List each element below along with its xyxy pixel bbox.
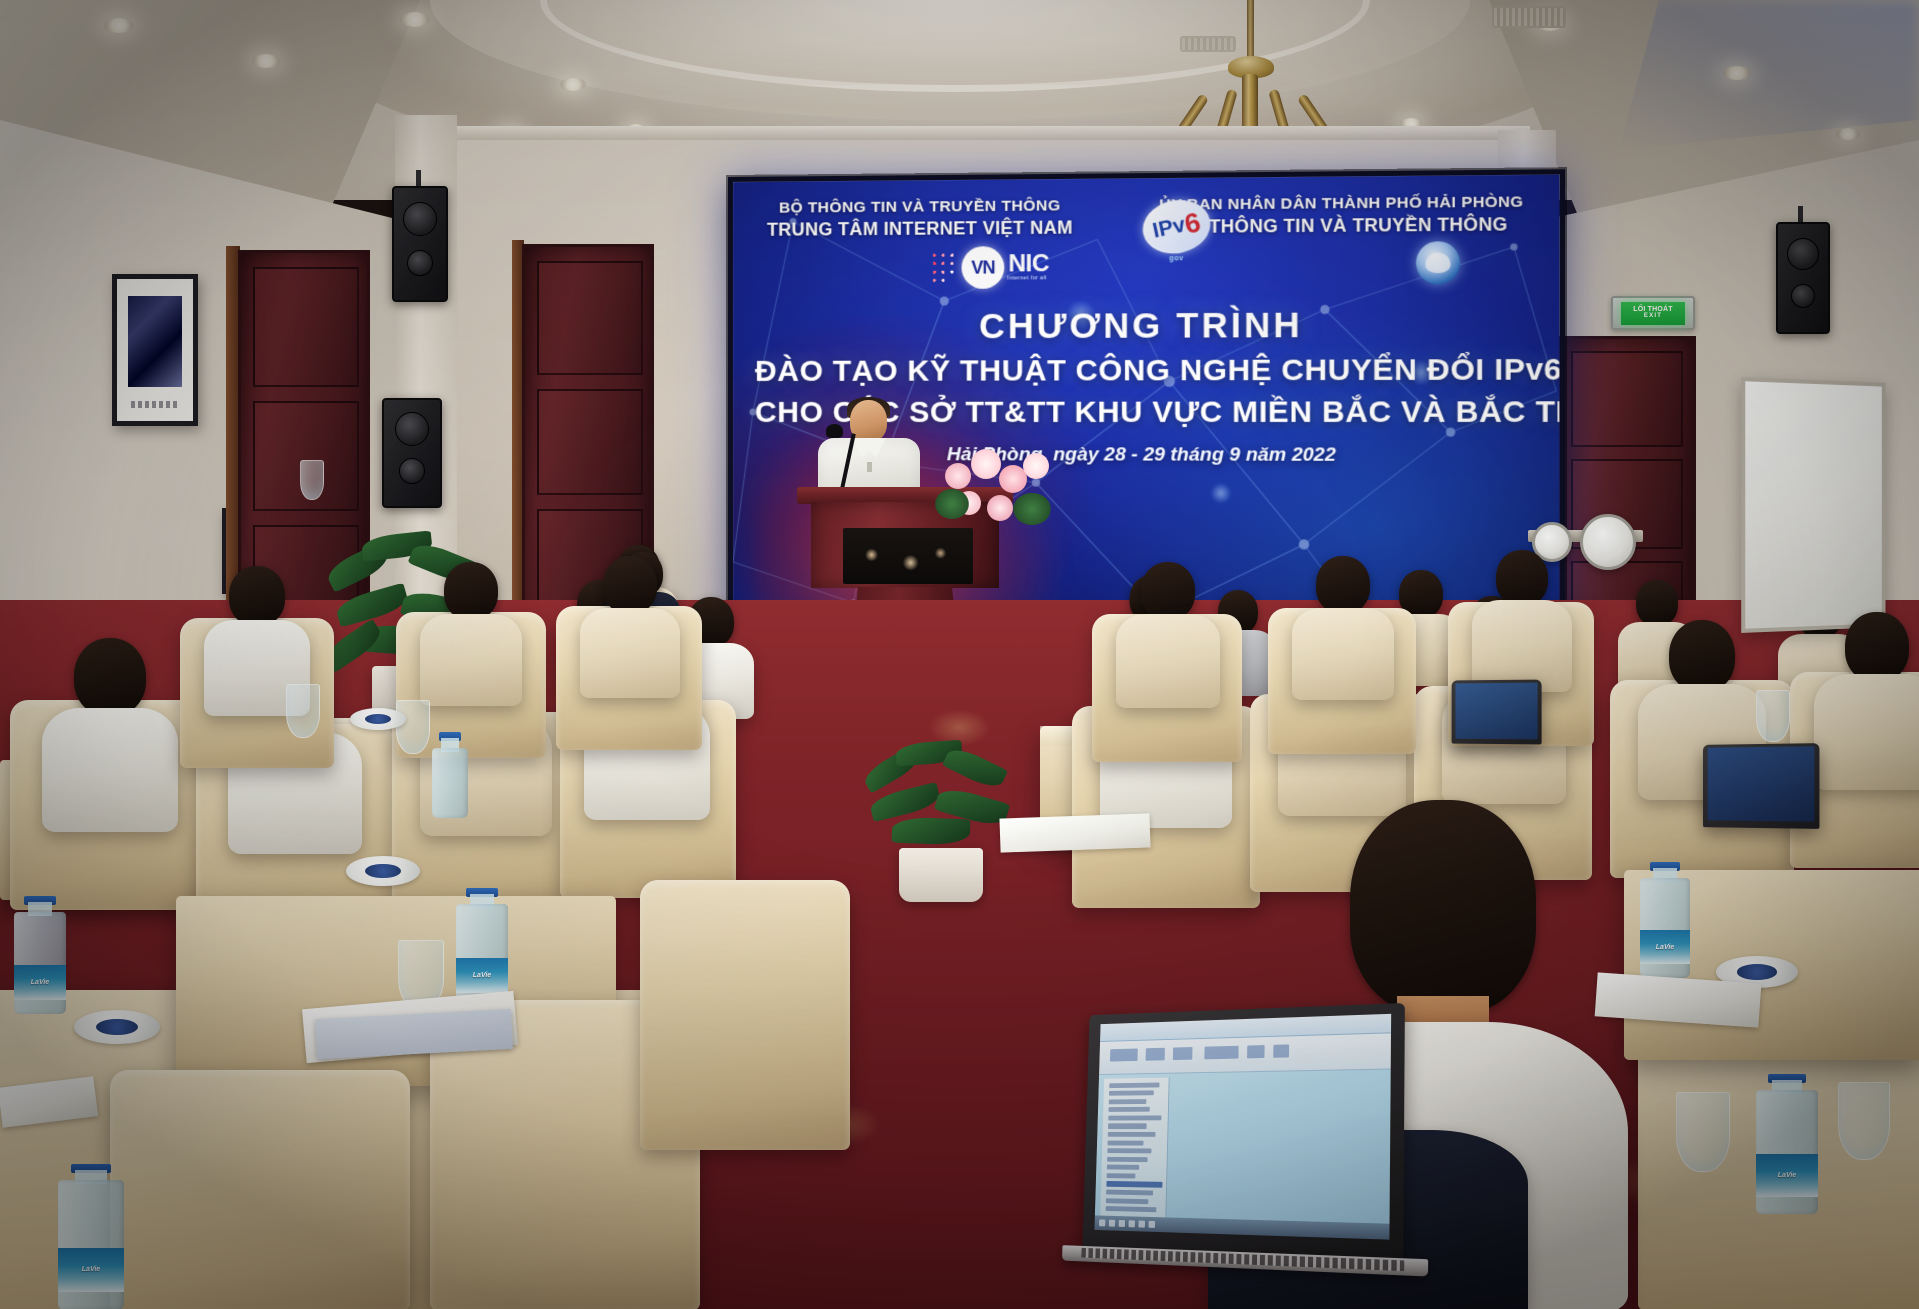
vnnic-nic-text: NIC: [1008, 253, 1049, 275]
speaker-cone: [403, 202, 437, 236]
flower: [945, 463, 971, 489]
door-panel: [537, 389, 643, 495]
tree-item[interactable]: [1106, 1206, 1157, 1212]
bottle-body: LaVie: [14, 912, 66, 1014]
ipv6-gov-label: gov: [1143, 255, 1211, 263]
bottle-body: LaVie: [1756, 1090, 1818, 1214]
attendee-head: [1350, 800, 1536, 1014]
attendee: [1472, 550, 1572, 692]
bottle-brand-text: LaVie: [473, 972, 491, 979]
taskbar-icon[interactable]: [1099, 1220, 1105, 1227]
chair-foreground: [640, 880, 850, 1150]
plant-leaf: [892, 817, 971, 846]
bottle-brand-text: LaVie: [1656, 944, 1674, 951]
attendee-torso: [42, 708, 178, 832]
attendee-torso: [1814, 674, 1919, 790]
tree-item-selected[interactable]: [1106, 1181, 1162, 1187]
bottle-body: LaVie: [58, 1180, 124, 1309]
org-left: BỘ THÔNG TIN VÀ TRUYỀN THÔNG TRUNG TÂM I…: [767, 197, 1073, 241]
downlight: [1723, 66, 1751, 80]
attendee-head: [603, 556, 657, 614]
attendee: [1292, 556, 1394, 700]
plant-leaf: [942, 744, 1008, 793]
chandelier-rod: [1247, 0, 1254, 62]
crown-molding: [430, 126, 1530, 140]
bottle-brand-text: LaVie: [1778, 1172, 1796, 1179]
vnnic-vn-mark: VN: [962, 246, 1005, 289]
screen-bokeh: [1211, 483, 1232, 503]
air-vent: [1180, 36, 1236, 52]
water-bottle[interactable]: LaVie: [1756, 1074, 1818, 1214]
wall-picture-large: [112, 274, 198, 426]
exit-sign: LỐI THOÁT EXIT: [1611, 296, 1695, 330]
microphone-icon: [826, 424, 843, 438]
wall-speaker-right: [1776, 222, 1830, 334]
speaker-cone: [399, 458, 425, 484]
tree-item[interactable]: [1109, 1099, 1146, 1104]
bottle-body: LaVie: [1640, 878, 1690, 978]
speaker-cone: [1791, 284, 1815, 308]
water-bottle[interactable]: LaVie: [456, 888, 508, 1008]
vnnic-dots-icon: [930, 251, 964, 285]
plant-pot: [899, 848, 983, 902]
wall-speaker-left-lower: [382, 398, 442, 508]
door-panel: [537, 261, 643, 375]
downlight: [400, 12, 430, 27]
picture-artwork: [128, 296, 183, 387]
tree-item[interactable]: [1107, 1148, 1151, 1153]
door-panel: [1571, 351, 1683, 447]
hai-phong-emblem: [1416, 241, 1460, 284]
downlight: [104, 18, 134, 33]
bottle-label: LaVie: [1756, 1154, 1818, 1196]
laptop-lid: [1452, 680, 1542, 745]
tree-item[interactable]: [1108, 1107, 1149, 1112]
downlight: [252, 54, 280, 68]
attendee-head: [74, 638, 146, 716]
tree-item[interactable]: [1109, 1090, 1154, 1095]
downlight: [560, 78, 586, 91]
saucer-with-cup[interactable]: [350, 708, 406, 730]
tree-item[interactable]: [1108, 1140, 1144, 1145]
flower: [971, 449, 1001, 479]
water-bottle[interactable]: [432, 732, 468, 818]
tree-item[interactable]: [1109, 1082, 1159, 1088]
laptop-mid-right[interactable]: [1452, 680, 1542, 745]
ipv6-prefix: IPv: [1150, 213, 1187, 244]
attendee-torso: [580, 608, 680, 698]
water-bottle[interactable]: LaVie: [14, 896, 66, 1014]
drinking-glass[interactable]: [286, 684, 320, 738]
org-left-line2: TRUNG TÂM INTERNET VIỆT NAM: [767, 217, 1073, 240]
laptop-lid: [1703, 743, 1819, 829]
air-vent: [1492, 6, 1566, 28]
toolbar-button[interactable]: [1145, 1047, 1165, 1060]
attendee-head: [229, 566, 285, 626]
ipv6-logo-text: IPv6: [1138, 194, 1216, 260]
attendee-head: [1496, 550, 1548, 606]
drinking-glass[interactable]: [1756, 690, 1790, 742]
document-stack[interactable]: [999, 813, 1150, 852]
attendee: [1814, 612, 1919, 788]
saucer-with-cup[interactable]: [346, 856, 420, 886]
drinking-glass[interactable]: [1838, 1082, 1890, 1160]
taskbar[interactable]: [1095, 1216, 1390, 1240]
toolbar-button[interactable]: [1247, 1045, 1265, 1059]
title-line-2: ĐÀO TẠO KỸ THUẬT CÔNG NGHỆ CHUYỂN ĐỔI IP…: [755, 353, 1536, 389]
water-bottle[interactable]: LaVie: [1640, 862, 1690, 978]
tree-item[interactable]: [1107, 1173, 1135, 1178]
flip-chart-whiteboard: [1741, 377, 1885, 633]
attendee: [420, 562, 522, 704]
attendee-torso: [1472, 600, 1572, 692]
attendee-head: [1316, 556, 1370, 614]
speaker-cone: [395, 412, 429, 446]
tree-item[interactable]: [1108, 1124, 1147, 1129]
taskbar-icon[interactable]: [1109, 1220, 1115, 1227]
bottle-label: LaVie: [58, 1248, 124, 1292]
bottle-label: LaVie: [456, 958, 508, 993]
exit-sign-label-vi: LỐI THOÁT: [1633, 306, 1673, 313]
exit-sign-label-en: EXIT: [1644, 313, 1662, 320]
flower: [1023, 453, 1049, 479]
bottle-label: LaVie: [14, 965, 66, 1000]
presenter-pocket: [867, 462, 872, 472]
bottle-label: LaVie: [1640, 930, 1690, 964]
bottle-brand-text: LaVie: [31, 979, 49, 986]
org-right-line2: SỞ THÔNG TIN VÀ TRUYỀN THÔNG: [1159, 214, 1523, 238]
org-left-line1: BỘ THÔNG TIN VÀ TRUYỀN THÔNG: [767, 197, 1073, 218]
taskbar-icon[interactable]: [1139, 1221, 1146, 1228]
title-line-1: CHƯƠNG TRÌNH: [755, 304, 1536, 347]
taskbar-icon[interactable]: [1129, 1220, 1136, 1227]
bottle-body: [432, 748, 468, 818]
tree-item[interactable]: [1106, 1190, 1153, 1196]
laptop-screen[interactable]: [1095, 1014, 1391, 1240]
attendee-head: [444, 562, 498, 620]
laptop-right-row[interactable]: [1703, 743, 1819, 829]
attendee: [1116, 562, 1220, 708]
tree-item[interactable]: [1106, 1198, 1149, 1204]
speaker-cone: [1787, 238, 1819, 270]
attendee: [580, 556, 680, 696]
saucer-with-cup[interactable]: [74, 1010, 160, 1044]
vnnic-logo: VN NIC Internet for all: [930, 246, 1049, 289]
tree-item[interactable]: [1108, 1132, 1156, 1137]
conference-room-photo: LỐI THOÁT EXIT: [0, 0, 1919, 1309]
tree-item[interactable]: [1107, 1157, 1147, 1162]
flower: [987, 495, 1013, 521]
presenter-head: [850, 400, 887, 442]
flower-foliage: [935, 489, 969, 519]
org-right-line1: ỦY BAN NHÂN DÂN THÀNH PHỐ HẢI PHÒNG: [1159, 193, 1523, 214]
drinking-glass[interactable]: [1676, 1092, 1730, 1172]
toolbar-button[interactable]: [1173, 1047, 1193, 1061]
tree-item[interactable]: [1107, 1165, 1139, 1170]
laptop-screen[interactable]: [1455, 682, 1538, 739]
ipv6-logo: IPv6 gov: [1143, 200, 1211, 253]
attendee-torso: [1116, 614, 1220, 708]
bottle-brand-text: LaVie: [82, 1266, 100, 1273]
laptop-foreground[interactable]: [1082, 1003, 1404, 1261]
picture-caption: [131, 401, 180, 408]
drinking-glass[interactable]: [396, 700, 430, 754]
attendee: [42, 638, 178, 828]
tree-item[interactable]: [1108, 1115, 1161, 1120]
toolbar-button[interactable]: [1204, 1045, 1239, 1059]
vnnic-tagline: Internet for all: [1007, 275, 1049, 281]
door-panel: [253, 267, 359, 387]
attendee-head: [1669, 620, 1735, 692]
vnnic-nic-block: NIC Internet for all: [1007, 253, 1049, 281]
attendee-torso: [1292, 608, 1394, 700]
taskbar-icon[interactable]: [1119, 1220, 1125, 1227]
org-right: ỦY BAN NHÂN DÂN THÀNH PHỐ HẢI PHÒNG SỞ T…: [1159, 193, 1523, 238]
chair-foreground: [110, 1070, 410, 1309]
flower-foliage: [1013, 493, 1051, 525]
wall-clock: [1580, 514, 1636, 570]
exit-sign-panel: LỐI THOÁT EXIT: [1621, 302, 1685, 325]
attendee-head: [1845, 612, 1909, 682]
toolbar-button[interactable]: [1110, 1048, 1137, 1061]
laptop-screen[interactable]: [1707, 747, 1814, 822]
speaker-cone: [407, 250, 433, 276]
downlight: [1836, 128, 1860, 140]
file-tree-panel[interactable]: [1100, 1078, 1169, 1218]
taskbar-icon[interactable]: [1149, 1221, 1156, 1228]
podium-flower-arrangement: [935, 445, 1063, 541]
drinking-glass[interactable]: [300, 460, 324, 500]
attendee-torso: [420, 614, 522, 706]
water-bottle[interactable]: LaVie: [58, 1164, 124, 1309]
wall-speaker-left-upper: [392, 186, 448, 302]
laptop-lid: [1082, 1003, 1404, 1261]
attendee-head: [1141, 562, 1195, 620]
close-icon[interactable]: [1274, 1044, 1289, 1058]
